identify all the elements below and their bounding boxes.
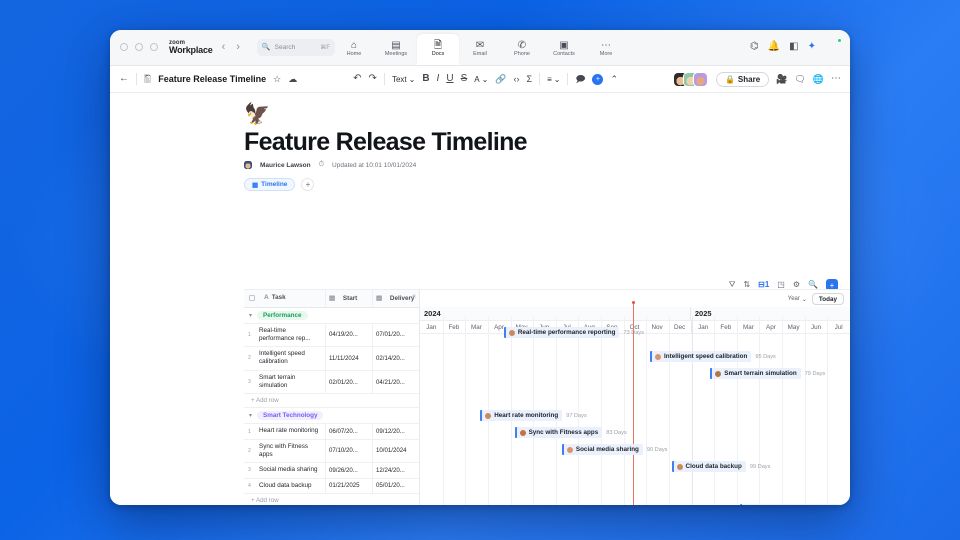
back-button[interactable]: ← <box>119 74 129 84</box>
document-title-label[interactable]: Feature Release Timeline <box>158 74 266 84</box>
row-index: 1 <box>244 324 255 347</box>
cell-delivery[interactable]: 07/01/20... <box>372 324 419 347</box>
doc-icon: 🗎 <box>434 41 442 51</box>
phone-icon: ✆ <box>518 41 526 51</box>
chat-icon[interactable]: 🗨 <box>794 75 805 84</box>
divider <box>136 73 137 85</box>
eagle-emoji-icon[interactable]: 🦅 <box>244 104 850 125</box>
chevron-down-icon: ⌄ <box>802 296 807 303</box>
font-color-button[interactable]: A⌄ <box>474 75 488 84</box>
document-toolbar: ← 🖺 Feature Release Timeline ☆ ☁ ↶ ↷ Tex… <box>110 66 850 93</box>
chevron-down-icon: ⌄ <box>554 75 561 84</box>
gantt-bar[interactable]: Intelligent speed calibration 95 Days <box>650 351 776 362</box>
cell-delivery[interactable]: 04/21/20... <box>372 371 419 394</box>
gantt-bar-label: Intelligent speed calibration <box>664 353 747 360</box>
cell-start[interactable]: 04/19/20... <box>325 324 372 347</box>
gantt-bar[interactable]: Cloud data backup 99 Days <box>672 461 771 472</box>
gantt-body[interactable]: Real-time performance reporting 73 Days … <box>420 317 850 505</box>
assignee-avatar <box>655 354 661 360</box>
doc-mark-icon: 🖺 <box>144 75 151 84</box>
updated-timestamp: Updated at 10:01 10/01/2024 <box>332 162 416 169</box>
video-icon[interactable]: 🎥 <box>776 75 787 84</box>
share-label: Share <box>738 75 760 84</box>
history-icon[interactable]: ◳ <box>777 281 785 289</box>
link-icon[interactable]: 🔗 <box>495 75 506 84</box>
search-icon[interactable]: 🔍 <box>808 281 818 289</box>
divider <box>539 73 540 85</box>
gantt-chart: Year⌄ Today 2024 2025 Jan Feb Mar Apr Ma… <box>420 290 850 505</box>
cell-start[interactable]: 09/26/20... <box>325 463 372 477</box>
table-header-row: ATask ▤ Start ▤ Delivery <box>244 290 419 308</box>
tab-meetings[interactable]: ▤Meetings <box>375 34 417 65</box>
timeline-block: « ATask ▤ Start ▤ Delivery ▾ Performance… <box>244 289 850 505</box>
calendar-icon: ▤ <box>376 294 382 302</box>
gantt-bar-label: Social media sharing <box>576 446 639 453</box>
assignee-avatar <box>715 371 721 377</box>
chevron-down-icon[interactable]: ▾ <box>249 312 252 319</box>
undo-button[interactable]: ↶ <box>353 74 361 84</box>
share-button[interactable]: 🔒 Share <box>716 72 769 87</box>
chevron-down-icon: ⌄ <box>482 75 489 84</box>
cell-delivery[interactable]: 05/01/20... <box>372 479 419 493</box>
contacts-icon: ▣ <box>559 41 568 51</box>
add-block-button[interactable]: + <box>592 74 603 85</box>
code-icon[interactable]: ‹› <box>514 75 520 84</box>
table-row[interactable]: 1 Real-time performance rep... 04/19/20.… <box>244 324 419 348</box>
status-badge <box>837 38 842 43</box>
group-count: 1 <box>765 280 769 289</box>
mail-icon: ✉ <box>476 41 484 51</box>
gantt-bar-label: Heart rate monitoring <box>494 412 558 419</box>
cell-task[interactable]: Sync with Fitness apps <box>255 440 325 463</box>
strikethrough-button[interactable]: S <box>461 74 468 84</box>
gantt-bar-label: Smart terrain simulation <box>724 370 796 377</box>
divider <box>567 73 568 85</box>
gantt-bar-box: Intelligent speed calibration <box>650 351 751 362</box>
tab-home[interactable]: ⌂Home <box>333 34 375 65</box>
cell-delivery[interactable]: 12/24/20... <box>372 463 419 477</box>
chevron-down-icon: ⌄ <box>409 75 416 84</box>
gantt-bar-duration: 95 Days <box>755 354 776 360</box>
author-avatar <box>244 161 252 169</box>
text-style-label: Text <box>392 75 407 84</box>
row-index: 2 <box>244 347 255 370</box>
collapse-toolbar-icon[interactable]: ⌃ <box>610 75 618 84</box>
cell-task[interactable]: Cloud data backup <box>255 479 325 493</box>
gantt-bar[interactable]: Smart terrain simulation 79 Days <box>710 368 825 379</box>
ai-sparkle-icon[interactable]: ✦ <box>808 42 816 52</box>
nav-forward-icon[interactable]: › <box>234 41 242 53</box>
row-index: 3 <box>244 463 255 477</box>
group-tag: Smart Technology <box>257 411 323 420</box>
apps-icon[interactable]: ⌬ <box>750 42 759 52</box>
cell-task[interactable]: Intelligent speed calibration <box>255 347 325 370</box>
view-tab-timeline[interactable]: ▦ Timeline <box>244 178 295 191</box>
bold-button[interactable]: B <box>422 74 429 84</box>
checkbox-box <box>249 295 255 301</box>
title-bar: zoom Workplace ‹ › 🔍 Search ⌘F ⌂Home ▤Me… <box>110 30 850 66</box>
cell-start[interactable]: 07/10/20... <box>325 440 372 463</box>
settings-icon[interactable]: ⚙ <box>793 281 800 289</box>
today-marker-dot <box>632 301 635 304</box>
gantt-bar-duration: 97 Days <box>566 413 587 419</box>
cell-task[interactable]: Heart rate monitoring <box>255 424 325 438</box>
row-index: 3 <box>244 371 255 394</box>
bell-icon[interactable]: 🔔 <box>768 42 780 52</box>
window-minimize-button[interactable] <box>135 43 143 51</box>
more-options-icon[interactable]: ⋯ <box>831 74 841 84</box>
lock-icon: 🔒 <box>725 75 735 84</box>
star-icon[interactable]: ☆ <box>273 75 281 84</box>
gantt-bar-label: Real-time performance reporting <box>518 329 616 336</box>
page-title: Feature Release Timeline <box>244 129 850 155</box>
profile-avatar[interactable] <box>825 39 841 55</box>
ellipsis-icon: ⋯ <box>601 41 611 51</box>
column-label-start: Start <box>343 295 357 302</box>
add-row-button[interactable]: + Add row <box>244 394 419 408</box>
title-bar-right: ⌬ 🔔 ◧ ✦ <box>750 30 841 65</box>
gantt-bar-duration: 73 Days <box>623 330 644 336</box>
tab-email[interactable]: ✉Email <box>459 34 501 65</box>
divider <box>384 73 385 85</box>
document-meta: Maurice Lawson ⏱ Updated at 10:01 10/01/… <box>244 161 850 169</box>
collaborator-avatar-3 <box>694 73 707 86</box>
zoom-workplace-logo: zoom Workplace <box>169 40 213 55</box>
assignee-avatar <box>567 447 573 453</box>
calendar-icon: ▤ <box>329 294 335 302</box>
align-button[interactable]: ≡⌄ <box>547 75 560 84</box>
zoom-workplace-window: zoom Workplace ‹ › 🔍 Search ⌘F ⌂Home ▤Me… <box>110 30 850 505</box>
tab-docs[interactable]: 🗎Docs <box>417 34 459 65</box>
today-button[interactable]: Today <box>812 293 844 305</box>
gantt-bar-duration: 99 Days <box>750 464 771 470</box>
gantt-bar-box: Sync with Fitness apps <box>515 427 603 438</box>
gantt-bar[interactable]: Sync with Fitness apps 83 Days <box>515 427 627 438</box>
title-bar-left: zoom Workplace ‹ › 🔍 Search ⌘F <box>110 30 335 65</box>
redo-button[interactable]: ↷ <box>369 74 377 84</box>
table-row[interactable]: 4 Cloud data backup 01/21/2025 05/01/20.… <box>244 479 419 494</box>
assignee-avatar <box>677 464 683 470</box>
cell-task[interactable]: Smart terrain simulation <box>255 371 325 394</box>
column-label-delivery: Delivery <box>390 295 415 302</box>
comment-icon[interactable]: 🗩 <box>575 75 585 84</box>
gantt-bar[interactable]: Real-time performance reporting 73 Days <box>504 327 644 338</box>
tab-more[interactable]: ⋯More <box>585 34 627 65</box>
table-row[interactable]: 3 Social media sharing 09/26/20... 12/24… <box>244 463 419 478</box>
gantt-bar[interactable]: Social media sharing 90 Days <box>562 444 668 455</box>
gantt-bar-box: Heart rate monitoring <box>480 410 562 421</box>
brand-workplace: Workplace <box>169 46 213 55</box>
group-header-performance[interactable]: ▾ Performance <box>244 308 419 324</box>
collapse-panel-icon[interactable]: « <box>412 293 416 300</box>
gantt-bar-box: Cloud data backup <box>672 461 746 472</box>
filter-icon[interactable]: ⛛ <box>729 281 736 289</box>
timeline-icon: ▦ <box>252 181 258 189</box>
document-header: 🦅 Feature Release Timeline Maurice Lawso… <box>110 93 850 191</box>
search-placeholder: Search <box>275 44 317 51</box>
cell-delivery[interactable]: 10/01/2024 <box>372 440 419 463</box>
add-row-button[interactable]: + Add row <box>244 494 419 505</box>
cell-delivery[interactable]: 09/12/20... <box>372 424 419 438</box>
tab-contacts[interactable]: ▣Contacts <box>543 34 585 65</box>
gantt-bar-duration: 90 Days <box>647 447 668 453</box>
gantt-bar-duration: 79 Days <box>805 371 826 377</box>
gantt-controls: Year⌄ Today <box>788 293 844 305</box>
group-button[interactable]: ⊟1 <box>758 281 769 289</box>
add-view-button[interactable]: + <box>301 178 314 191</box>
cell-task[interactable]: Real-time performance rep... <box>255 324 325 347</box>
nav-back-icon[interactable]: ‹ <box>220 41 228 53</box>
gantt-bar-label: Cloud data backup <box>686 463 742 470</box>
gantt-bar-duration: 83 Days <box>606 430 627 436</box>
group-tag: Performance <box>257 311 308 320</box>
gantt-bar-box: Social media sharing <box>562 444 643 455</box>
home-icon: ⌂ <box>351 41 357 51</box>
gantt-bar-label: Sync with Fitness apps <box>529 429 599 436</box>
zoom-level-label: Year <box>788 296 800 302</box>
view-tabs: ▦ Timeline + <box>244 178 850 191</box>
column-label-task: Task <box>272 294 286 302</box>
cell-start[interactable]: 06/07/20... <box>325 424 372 438</box>
search-icon: 🔍 <box>262 43 271 51</box>
cell-task[interactable]: Social media sharing <box>255 463 325 477</box>
window-maximize-button[interactable] <box>150 43 158 51</box>
sort-icon[interactable]: ⇅ <box>743 281 750 289</box>
group-header-smart-technology[interactable]: ▾ Smart Technology <box>244 408 419 424</box>
search-shortcut: ⌘F <box>320 44 330 51</box>
row-index: 2 <box>244 440 255 463</box>
history-icon: ⏱ <box>319 161 324 169</box>
globe-icon[interactable]: 🌐 <box>813 75 824 84</box>
gantt-controls-spacer <box>420 290 850 307</box>
panel-icon[interactable]: ◧ <box>789 42 798 52</box>
global-search-input[interactable]: 🔍 Search ⌘F <box>257 39 335 56</box>
cell-start[interactable]: 01/21/2025 <box>325 479 372 493</box>
column-header-start[interactable]: ▤ Start <box>325 290 372 307</box>
chevron-down-icon[interactable]: ▾ <box>249 412 252 419</box>
collaborator-avatars[interactable] <box>674 73 707 86</box>
gantt-bar-box: Smart terrain simulation <box>710 368 800 379</box>
cell-start[interactable]: 02/01/20... <box>325 371 372 394</box>
gantt-bar[interactable]: 32 preset workout programs <box>740 504 847 505</box>
calendar-icon: ▤ <box>391 41 400 51</box>
view-tab-label: Timeline <box>261 181 287 188</box>
gantt-bar[interactable]: Heart rate monitoring 97 Days <box>480 410 587 421</box>
formula-icon[interactable]: Σ <box>527 75 533 84</box>
italic-button[interactable]: I <box>437 74 440 84</box>
table-row[interactable]: 2 Intelligent speed calibration 11/11/20… <box>244 347 419 371</box>
underline-button[interactable]: U <box>446 74 453 84</box>
cell-start[interactable]: 11/11/2024 <box>325 347 372 370</box>
select-all-checkbox[interactable] <box>244 290 260 307</box>
align-icon: ≡ <box>547 75 552 84</box>
window-close-button[interactable] <box>120 43 128 51</box>
assignee-avatar <box>520 430 526 436</box>
main-nav-tabs: ⌂Home ▤Meetings 🗎Docs ✉Email ✆Phone ▣Con… <box>333 30 627 65</box>
table-row[interactable]: 2 Sync with Fitness apps 07/10/20... 10/… <box>244 440 419 464</box>
tab-phone[interactable]: ✆Phone <box>501 34 543 65</box>
author-name: Maurice Lawson <box>260 162 311 169</box>
document-page: 🦅 Feature Release Timeline Maurice Lawso… <box>110 93 850 505</box>
table-row[interactable]: 1 Heart rate monitoring 06/07/20... 09/1… <box>244 424 419 439</box>
assignee-avatar <box>485 413 491 419</box>
row-index: 4 <box>244 479 255 493</box>
assignee-avatar <box>509 330 515 336</box>
cell-delivery[interactable]: 02/14/20... <box>372 347 419 370</box>
gantt-bar-box: 32 preset workout programs <box>740 504 843 505</box>
column-header-task[interactable]: ATask <box>260 290 325 307</box>
row-index: 1 <box>244 424 255 438</box>
zoom-level-dropdown[interactable]: Year⌄ <box>788 296 807 303</box>
table-row[interactable]: 3 Smart terrain simulation 02/01/20... 0… <box>244 371 419 395</box>
task-table: « ATask ▤ Start ▤ Delivery ▾ Performance… <box>244 290 420 505</box>
gantt-bar-box: Real-time performance reporting <box>504 327 620 338</box>
text-style-dropdown[interactable]: Text⌄ <box>392 75 415 84</box>
cloud-icon: ☁ <box>288 75 297 84</box>
font-color-label: A <box>474 75 479 84</box>
text-type-icon: A <box>264 294 269 303</box>
